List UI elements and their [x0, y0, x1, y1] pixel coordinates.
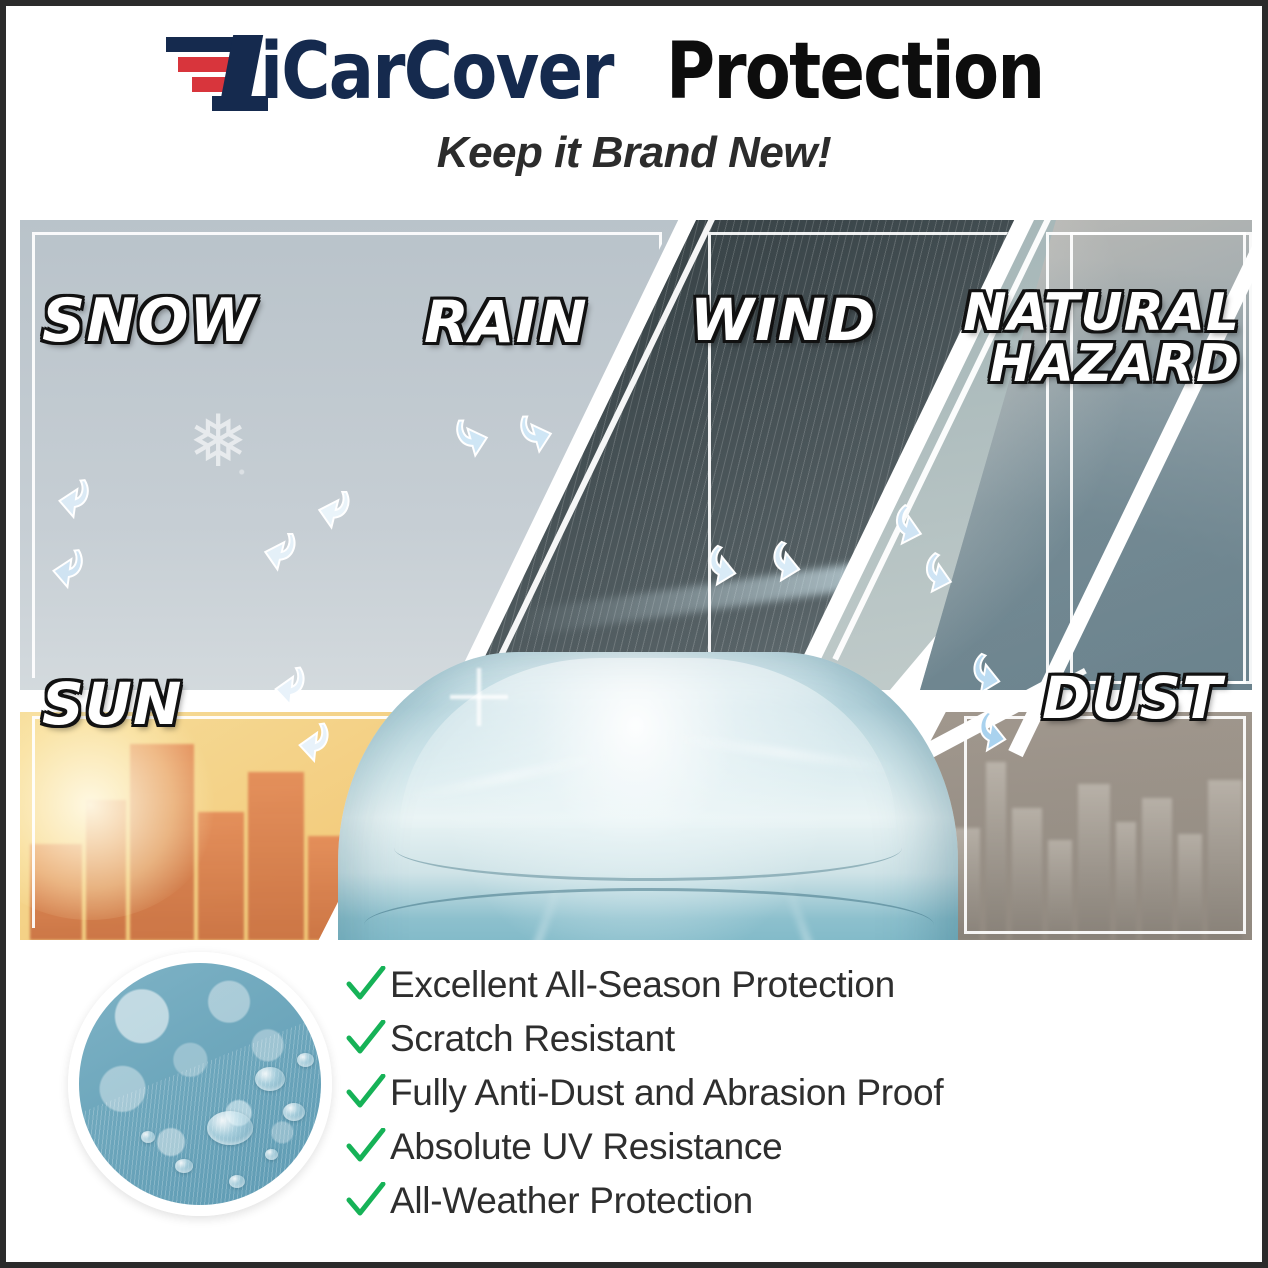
panel-label-wind: WIND — [690, 292, 876, 349]
header: iCarCover Protection Keep it Brand New! — [6, 24, 1262, 178]
deflection-arrow-icon — [33, 539, 92, 598]
panel-label-rain: RAIN — [424, 294, 588, 351]
shine-sparkle-icon — [450, 668, 508, 726]
green-check-icon — [346, 966, 390, 1004]
green-check-icon — [346, 1182, 390, 1220]
deflection-arrow-icon — [968, 704, 1028, 764]
tagline: Keep it Brand New! — [6, 128, 1262, 178]
deflection-arrow-icon — [255, 657, 312, 714]
deflection-arrow-icon — [698, 538, 758, 598]
feature-label: All-Weather Protection — [390, 1180, 753, 1222]
covered-car-icon — [338, 652, 958, 940]
deflection-arrow-icon — [962, 646, 1022, 706]
water-beading-fabric-icon — [68, 952, 332, 1216]
feature-label: Absolute UV Resistance — [390, 1126, 782, 1168]
protection-collage: ❅ — [20, 220, 1252, 940]
deflection-arrow-icon — [279, 713, 336, 770]
panel-label-snow: SNOW — [42, 292, 257, 351]
product-infographic: iCarCover Protection Keep it Brand New! … — [0, 0, 1268, 1268]
snowflake-icon: ❅ — [188, 406, 248, 478]
brand-suffix: Protection — [666, 27, 1043, 117]
feature-label: Fully Anti-Dust and Abrasion Proof — [390, 1072, 943, 1114]
panel-label-hazard: NATURAL HAZARD — [958, 288, 1240, 390]
green-check-icon — [346, 1074, 390, 1112]
brand-name: iCarCover — [260, 27, 613, 117]
deflection-arrow-icon — [39, 469, 98, 528]
panel-label-dust: DUST — [1042, 670, 1223, 727]
green-check-icon — [346, 1128, 390, 1166]
feature-item: All-Weather Protection — [346, 1174, 1176, 1228]
panel-label-sun: SUN — [42, 676, 182, 733]
deflection-arrow-icon — [762, 534, 822, 594]
feature-label: Excellent All-Season Protection — [390, 964, 895, 1006]
feature-item: Scratch Resistant — [346, 1012, 1176, 1066]
green-check-icon — [346, 1020, 390, 1058]
feature-item: Excellent All-Season Protection — [346, 958, 1176, 1012]
feature-list: Excellent All-Season Protection Scratch … — [346, 958, 1176, 1228]
icarcover-flag-logo-icon — [164, 33, 276, 111]
feature-item: Absolute UV Resistance — [346, 1120, 1176, 1174]
brand-row: iCarCover Protection — [6, 24, 1262, 120]
feature-label: Scratch Resistant — [390, 1018, 675, 1060]
feature-item: Fully Anti-Dust and Abrasion Proof — [346, 1066, 1176, 1120]
